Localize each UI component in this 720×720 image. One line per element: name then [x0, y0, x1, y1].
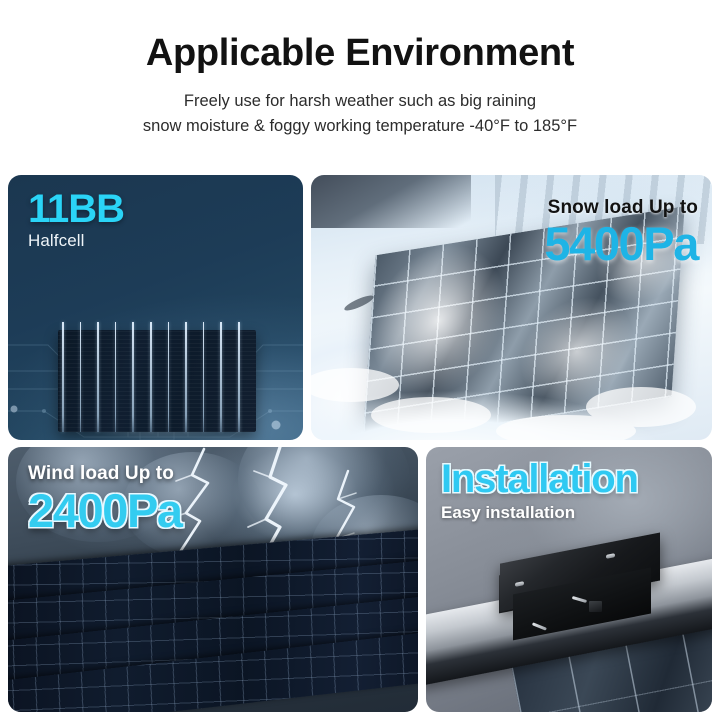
busbar-6: [150, 322, 152, 432]
snow-load-value: 5400Pa: [544, 220, 698, 268]
snow-text-block: Snow load Up to 5400Pa: [544, 197, 698, 268]
busbar-8: [185, 322, 187, 432]
panel-snow-load[interactable]: Snow load Up to 5400Pa: [311, 175, 712, 440]
bracket-nut-plate: [589, 601, 602, 612]
solar-panel-array: [8, 564, 418, 712]
installation-subtitle: Easy installation: [441, 503, 638, 523]
subtitle-line-1: Freely use for harsh weather such as big…: [0, 89, 720, 114]
subtitle-line-2: snow moisture & foggy working temperatur…: [0, 114, 720, 139]
snow-load-label: Snow load Up to: [544, 197, 698, 219]
busbar-10: [220, 322, 222, 432]
solar-cell-illustration: [58, 330, 256, 432]
installation-text-block: Installation Easy installation: [441, 457, 638, 523]
busbar-11: [238, 322, 240, 432]
busbar-1: [62, 322, 64, 432]
solar-cell-body: [58, 330, 256, 432]
busbar-4: [115, 322, 117, 432]
busbar-5: [132, 322, 134, 432]
busbar-9: [203, 322, 205, 432]
busbar-2: [80, 322, 82, 432]
busbar-3: [97, 322, 99, 432]
wind-load-value: 2400Pa: [28, 486, 182, 535]
wind-load-label: Wind load Up to: [28, 463, 182, 485]
panel-halfcell[interactable]: 11BB Halfcell: [8, 175, 303, 440]
installation-title: Installation: [441, 457, 638, 501]
subtitle-block: Freely use for harsh weather such as big…: [0, 89, 720, 139]
halfcell-label: Halfcell: [28, 231, 124, 251]
busbar-7: [168, 322, 170, 432]
wind-text-block: Wind load Up to 2400Pa: [28, 463, 182, 535]
panel-wind-load[interactable]: Wind load Up to 2400Pa: [8, 447, 418, 712]
header: Applicable Environment Freely use for ha…: [0, 0, 720, 139]
z-mounting-bracket: [500, 548, 660, 630]
page-title: Applicable Environment: [0, 34, 720, 72]
panel-installation[interactable]: Installation Easy installation: [426, 447, 712, 712]
halfcell-text-block: 11BB Halfcell: [28, 188, 124, 251]
applicable-environment-infographic: Applicable Environment Freely use for ha…: [0, 0, 720, 720]
halfcell-value: 11BB: [28, 188, 124, 230]
feature-panel-grid: 11BB Halfcell: [0, 175, 720, 712]
